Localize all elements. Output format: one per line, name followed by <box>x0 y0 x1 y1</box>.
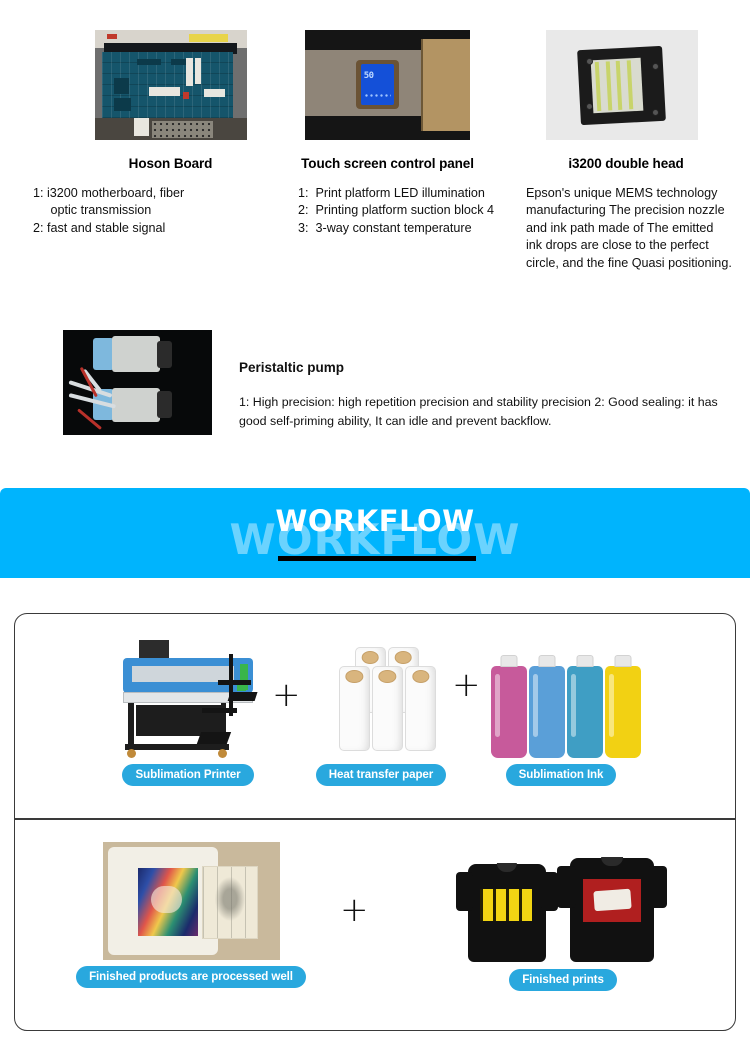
hoson-board-image <box>95 30 247 140</box>
feature-title: Touch screen control panel <box>280 156 495 171</box>
feature-line: optic transmission <box>33 202 248 219</box>
workflow-item-finished-prints[interactable]: Finished prints <box>450 842 676 991</box>
printed-tshirt <box>468 864 546 962</box>
sublimation-printer-image <box>120 640 256 758</box>
feature-line: Epson's unique MEMS technology <box>526 185 748 202</box>
workflow-banner-title: WORKFLOW <box>0 504 750 538</box>
lcd-temperature-value: 50 <box>364 71 374 81</box>
feature-line: 3: 3-way constant temperature <box>298 220 530 237</box>
workflow-banner-rule <box>278 556 476 561</box>
feature-i3200-double-head: i3200 double head Epson's unique MEMS te… <box>526 30 746 272</box>
workflow-badge[interactable]: Finished products are processed well <box>76 966 306 988</box>
feature-touch-screen-control-panel: 50 Touch screen control panel 1: Print p… <box>300 30 530 237</box>
ink-bottle <box>491 666 527 758</box>
finished-products-image <box>103 842 280 960</box>
workflow-badge[interactable]: Sublimation Printer <box>122 764 253 786</box>
i3200-head-image <box>546 30 698 140</box>
printed-tshirt <box>570 858 654 962</box>
feature-line: 1: Print platform LED illumination <box>298 185 530 202</box>
pump-title: Peristaltic pump <box>239 360 344 375</box>
touch-screen-image: 50 <box>305 30 470 140</box>
workflow-badge[interactable]: Heat transfer paper <box>316 764 446 786</box>
feature-line: 2: fast and stable signal <box>33 220 248 237</box>
workflow-separator-plus: + <box>452 668 481 702</box>
feature-body: 1: i3200 motherboard, fiber optic transm… <box>33 185 248 237</box>
feature-title: Hoson Board <box>95 156 247 171</box>
ink-bottle <box>605 666 641 758</box>
feature-body: Epson's unique MEMS technology manufactu… <box>526 185 748 272</box>
ink-bottle <box>529 666 565 758</box>
heat-transfer-paper-image <box>322 640 440 758</box>
workflow-item-sublimation-ink[interactable]: Sublimation Ink <box>487 640 635 786</box>
sublimation-ink-image <box>487 640 635 758</box>
workflow-badge[interactable]: Finished prints <box>509 969 617 991</box>
pump-body: 1: High precision: high repetition preci… <box>239 393 739 430</box>
feature-line: circle, and the fine Quasi positioning. <box>526 255 748 272</box>
workflow-item-sublimation-printer[interactable]: Sublimation Printer <box>98 640 278 786</box>
workflow-separator-plus: + <box>272 678 301 712</box>
feature-line: 1: i3200 motherboard, fiber <box>33 185 248 202</box>
workflow-badge[interactable]: Sublimation Ink <box>506 764 617 786</box>
feature-line: manufacturing The precision nozzle <box>526 202 748 219</box>
feature-line: and ink path made of The emitted <box>526 220 748 237</box>
feature-line: ink drops are close to the perfect <box>526 237 748 254</box>
workflow-banner: WORKFLOW WORKFLOW <box>0 488 750 578</box>
workflow-separator-plus: + <box>340 893 369 927</box>
finished-prints-image <box>450 842 676 967</box>
feature-title: i3200 double head <box>526 156 726 171</box>
peristaltic-pump-image <box>63 330 212 435</box>
product-detail-page: Hoson Board 1: i3200 motherboard, fiber … <box>0 0 750 1050</box>
pump-line: 1: High precision: high repetition preci… <box>239 395 591 409</box>
feature-body: 1: Print platform LED illumination 2: Pr… <box>298 185 530 237</box>
feature-hoson-board: Hoson Board 1: i3200 motherboard, fiber … <box>63 30 278 237</box>
feature-line: 2: Printing platform suction block 4 <box>298 202 530 219</box>
workflow-item-finished-products[interactable]: Finished products are processed well <box>66 842 316 988</box>
workflow-row-divider <box>14 818 736 820</box>
ink-bottle <box>567 666 603 758</box>
workflow-item-heat-transfer-paper[interactable]: Heat transfer paper <box>310 640 452 786</box>
